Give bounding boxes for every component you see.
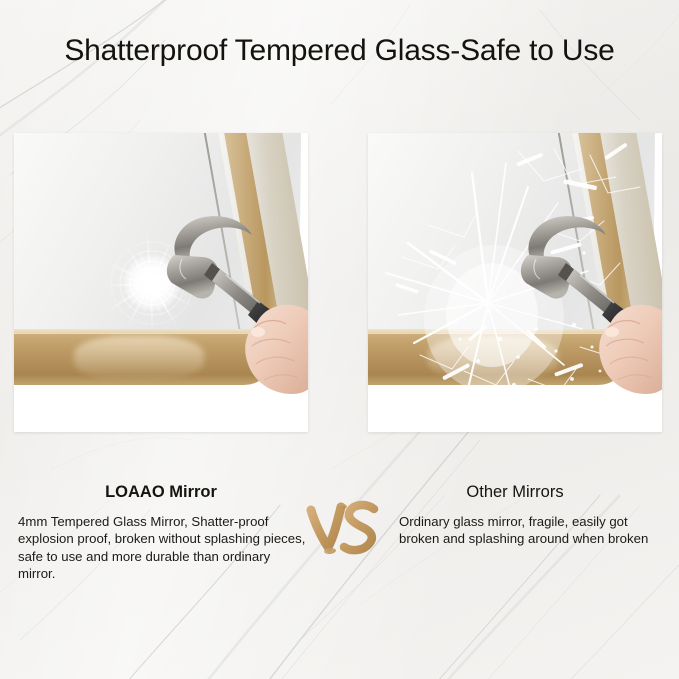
page-title: Shatterproof Tempered Glass-Safe to Use xyxy=(0,34,679,68)
photo-panel-other xyxy=(368,133,662,432)
loaao-description: 4mm Tempered Glass Mirror, Shatter-proof… xyxy=(18,513,306,583)
frame-sheen xyxy=(74,336,204,380)
loaao-heading: LOAAO Mirror xyxy=(14,483,308,502)
frame-sheen xyxy=(428,336,558,380)
other-heading: Other Mirrors xyxy=(368,483,662,502)
other-description: Ordinary glass mirror, fragile, easily g… xyxy=(399,513,651,548)
product-infographic: Shatterproof Tempered Glass-Safe to Use xyxy=(0,0,679,679)
photo-panel-loaao xyxy=(14,133,308,432)
vs-separator-badge xyxy=(306,498,382,560)
